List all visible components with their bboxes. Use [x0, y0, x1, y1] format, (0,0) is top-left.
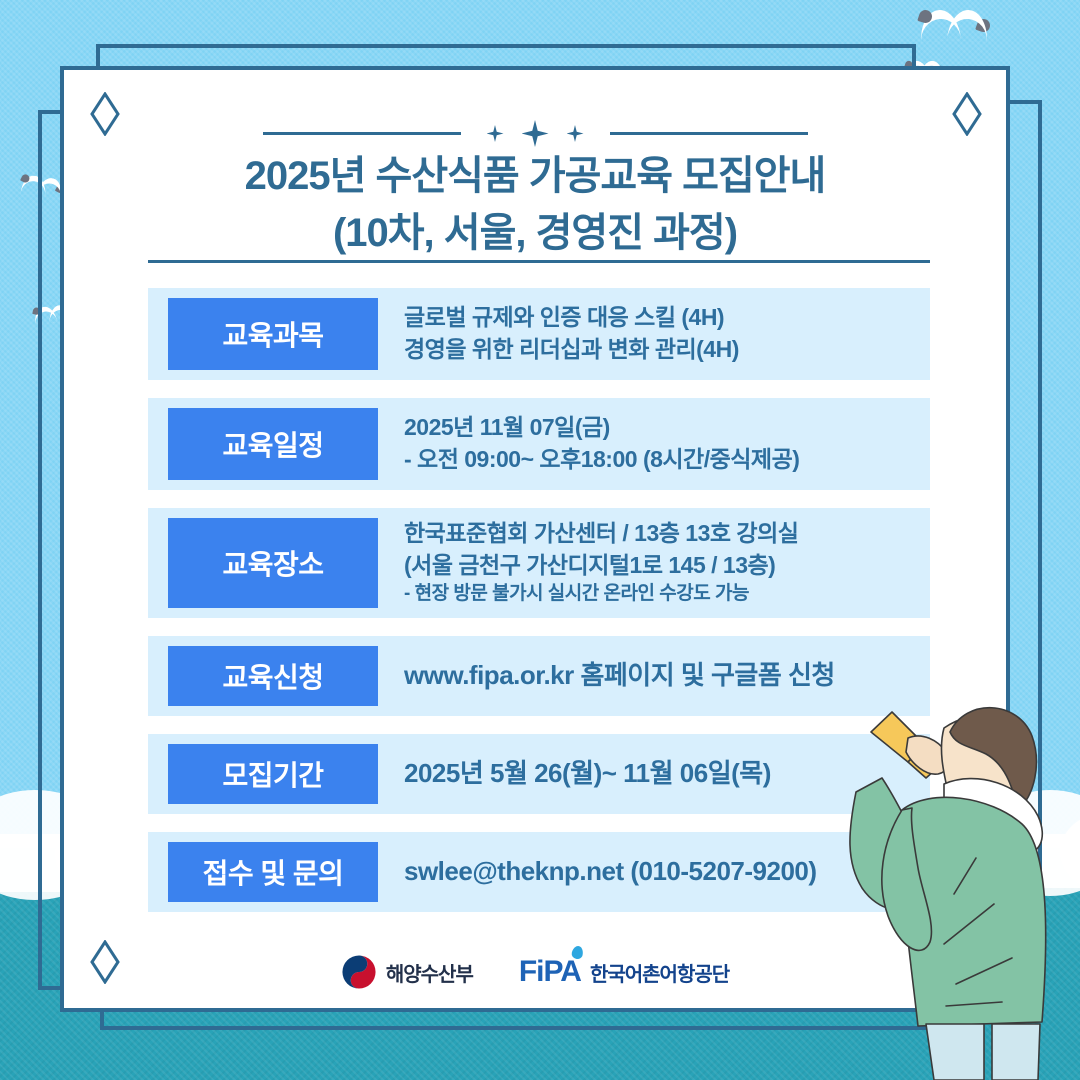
- four-point-star-icon: [567, 125, 584, 142]
- ornament-line-right: [610, 132, 808, 135]
- ornament-line-left: [263, 132, 461, 135]
- row-value-line: - 오전 09:00~ 오후18:00 (8시간/중식제공): [404, 444, 916, 476]
- row-value: 글로벌 규제와 인증 대응 스킬 (4H)경영을 위한 리더십과 변화 관리(4…: [378, 292, 930, 375]
- title-line-1: 2025년 수산식품 가공교육 모집안내: [64, 148, 1006, 205]
- info-table: 교육과목글로벌 규제와 인증 대응 스킬 (4H)경영을 위한 리더십과 변화 …: [148, 288, 930, 930]
- fipa-abbr-text: FiPA: [519, 955, 581, 988]
- row-label-badge: 교육일정: [168, 408, 378, 480]
- row-value-line: 경영을 위한 리더십과 변화 관리(4H): [404, 334, 916, 366]
- row-value-line: 글로벌 규제와 인증 대응 스킬 (4H): [404, 302, 916, 334]
- row-value-line: (서울 금천구 가산디지털1로 145 / 13층): [404, 550, 916, 582]
- page-title: 2025년 수산식품 가공교육 모집안내 (10차, 서울, 경영진 과정): [64, 148, 1006, 262]
- person-with-megaphone-illustration: [826, 692, 1080, 1080]
- poster-root: 2025년 수산식품 가공교육 모집안내 (10차, 서울, 경영진 과정) 교…: [0, 0, 1080, 1080]
- fipa-droplet-icon: [571, 945, 584, 960]
- table-row: 교육신청www.fipa.or.kr 홈페이지 및 구글폼 신청: [148, 636, 930, 716]
- fipa-abbr: FiPA: [519, 955, 581, 989]
- row-label-badge: 모집기간: [168, 744, 378, 804]
- row-value: 2025년 11월 07일(금) - 오전 09:00~ 오후18:00 (8시…: [378, 402, 930, 485]
- row-value-line: 한국표준협회 가산센터 / 13층 13호 강의실: [404, 518, 916, 550]
- row-value: 한국표준협회 가산센터 / 13층 13호 강의실(서울 금천구 가산디지털1로…: [378, 508, 930, 618]
- four-point-star-icon: [487, 125, 504, 142]
- row-label-badge: 교육장소: [168, 518, 378, 608]
- fipa-logo: FiPA 한국어촌어항공단: [519, 955, 729, 989]
- four-point-star-icon: [522, 120, 549, 147]
- title-ornament: [64, 120, 1006, 147]
- table-row: 접수 및 문의swlee@theknp.net (010-5207-9200): [148, 832, 930, 912]
- row-label-badge: 교육신청: [168, 646, 378, 706]
- table-row: 교육과목글로벌 규제와 인증 대응 스킬 (4H)경영을 위한 리더십과 변화 …: [148, 288, 930, 380]
- ministry-logo: 해양수산부: [341, 954, 473, 990]
- title-line-2: (10차, 서울, 경영진 과정): [64, 205, 1006, 262]
- row-value-line: www.fipa.or.kr 홈페이지 및 구글폼 신청: [404, 658, 916, 694]
- seagull-icon: [920, 10, 990, 36]
- row-label-badge: 접수 및 문의: [168, 842, 378, 902]
- table-row: 교육일정2025년 11월 07일(금) - 오전 09:00~ 오후18:00…: [148, 398, 930, 490]
- table-row: 모집기간2025년 5월 26(월)~ 11월 06일(목): [148, 734, 930, 814]
- fipa-name: 한국어촌어항공단: [590, 958, 729, 987]
- table-row: 교육장소한국표준협회 가산센터 / 13층 13호 강의실(서울 금천구 가산디…: [148, 508, 930, 618]
- row-value-line: - 현장 방문 불가시 실시간 온라인 수강도 가능: [404, 581, 916, 607]
- taegeuk-icon: [341, 954, 377, 990]
- ministry-name: 해양수산부: [386, 958, 473, 987]
- row-value-line: 2025년 11월 07일(금): [404, 412, 916, 444]
- title-divider: [148, 260, 930, 263]
- row-label-badge: 교육과목: [168, 298, 378, 370]
